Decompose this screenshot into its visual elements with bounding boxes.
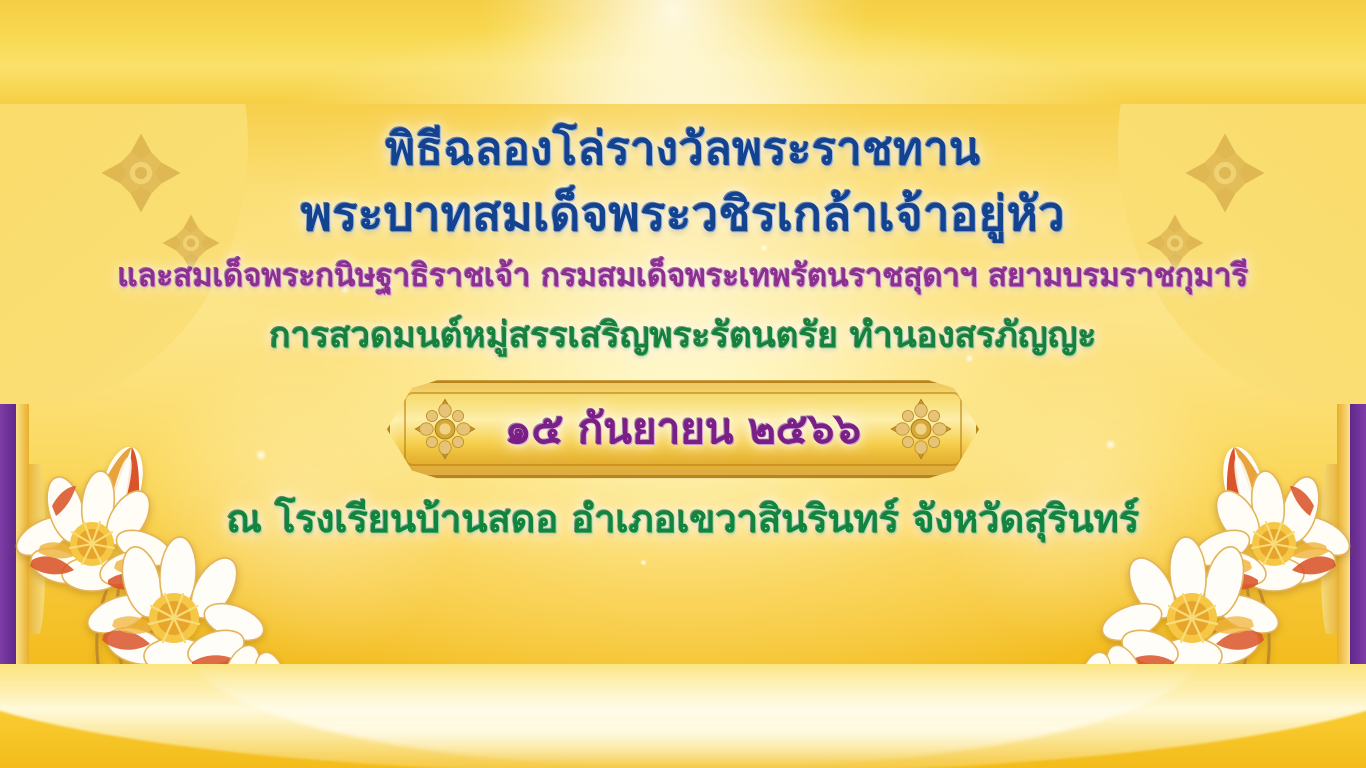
top-gold-strip bbox=[0, 0, 1366, 108]
headline-line-2: พระบาทสมเด็จพระวชิรเกล้าเจ้าอยู่หัว bbox=[0, 191, 1366, 240]
bottom-gold-strip bbox=[0, 664, 1366, 768]
date-ribbon-wrap: ๑๕ กันยายน ๒๕๖๖ bbox=[0, 380, 1366, 478]
banner-stage: พิธีฉลองโล่รางวัลพระราชทาน พระบาทสมเด็จพ… bbox=[0, 0, 1366, 768]
event-title: การสวดมนต์หมู่สรรเสริญพระรัตนตรัย ทำนองส… bbox=[0, 318, 1366, 354]
lotus-rosette-icon bbox=[890, 398, 952, 460]
top-light-glow bbox=[464, 0, 884, 108]
banner-content: พิธีฉลองโล่รางวัลพระราชทาน พระบาทสมเด็จพ… bbox=[0, 104, 1366, 666]
headline-line-1: พิธีฉลองโล่รางวัลพระราชทาน bbox=[0, 126, 1366, 173]
headline-line-3: และสมเด็จพระกนิษฐาธิราชเจ้า กรมสมเด็จพระ… bbox=[0, 260, 1366, 292]
event-date: ๑๕ กันยายน ๒๕๖๖ bbox=[505, 396, 861, 462]
lotus-rosette-icon bbox=[414, 398, 476, 460]
date-ribbon: ๑๕ กันยายน ๒๕๖๖ bbox=[387, 380, 979, 478]
venue-line: ณ โรงเรียนบ้านสดอ อำเภอเขวาสินรินทร์ จัง… bbox=[0, 500, 1366, 540]
